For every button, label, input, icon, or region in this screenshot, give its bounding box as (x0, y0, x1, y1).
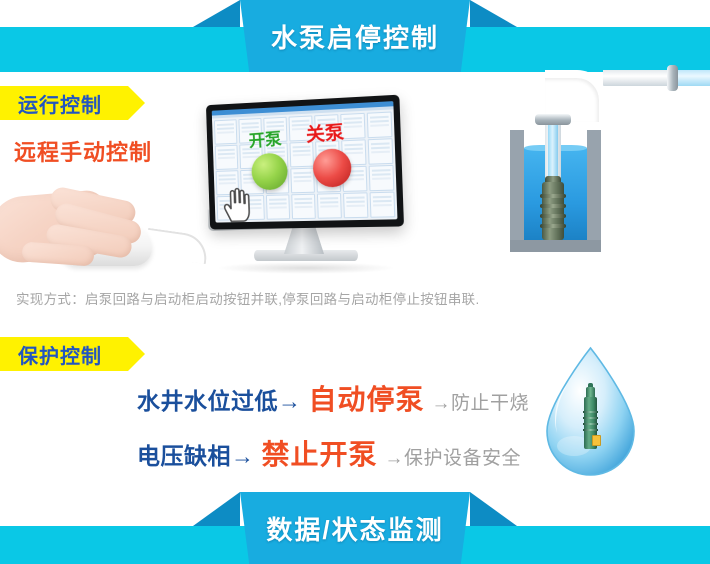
tag-arrow-point-icon (128, 86, 145, 120)
pump-control-ui: 开泵 关泵 (212, 101, 398, 222)
start-pump-button[interactable] (251, 153, 288, 191)
pump-ring (583, 423, 598, 425)
pump-ring (540, 224, 566, 228)
pump-ring (540, 194, 566, 198)
stop-pump-button[interactable] (312, 148, 352, 188)
infographic-page: 水泵启停控制 运行控制 远程手动控制 (0, 0, 710, 564)
protection-rule-action: 自动停泵 (309, 378, 425, 418)
water-outlet-pipe-icon (678, 70, 710, 86)
top-banner-fold-left (193, 0, 240, 27)
start-pump-label: 开泵 (248, 124, 282, 151)
stop-pump-label: 关泵 (305, 117, 345, 147)
protection-rule-effect: →防止干烧 (432, 388, 530, 415)
protection-rule-effect: →保护设备安全 (385, 443, 522, 470)
tag-protection-control[interactable]: 保护控制 (0, 337, 128, 371)
well-floor (510, 240, 601, 252)
well-wall-left (510, 130, 524, 252)
hand-on-mouse-icon (0, 172, 194, 280)
protection-rule-condition: 水井水位过低→ (137, 382, 302, 416)
pump-ring (540, 204, 566, 208)
pump-ring (540, 214, 566, 218)
top-banner-title: 水泵启停控制 (271, 18, 439, 55)
top-banner-fold-right (470, 0, 517, 27)
pointing-hand-cursor-icon (220, 185, 253, 222)
bottom-banner-fold-right (470, 492, 517, 526)
water-droplet-icon (538, 345, 643, 480)
implementation-note: 实现方式：启泵回路与启动柜启动按钮并联,停泵回路与启动柜停止按钮串联. (16, 288, 480, 308)
bottom-banner-title: 数据/状态监测 (266, 510, 443, 547)
pump-label-tag (592, 435, 601, 446)
monitor-screen: 开泵 关泵 (212, 101, 398, 222)
pump-ring (583, 417, 598, 419)
pump-ring (583, 429, 598, 431)
protection-rule-row: 电压缺相→ 禁止开泵 →保护设备安全 (137, 433, 521, 473)
pipe-flange-horizontal-icon (667, 65, 678, 91)
desktop-monitor-icon: 开泵 关泵 (196, 100, 406, 275)
well-wall-right (587, 130, 601, 252)
droplet-pump-icon (582, 383, 599, 449)
pump-ring (583, 411, 598, 413)
bottom-banner-fold-left (193, 492, 240, 526)
pump-body-icon (542, 182, 564, 240)
tag-arrow-point-icon (128, 337, 145, 371)
monitor-shadow (216, 262, 396, 274)
monitor-bezel: 开泵 关泵 (206, 95, 404, 230)
monitor-stand-icon (284, 224, 324, 254)
finger-pinky-icon (21, 242, 94, 267)
tag-protection-control-label: 保护控制 (18, 340, 102, 369)
top-banner-plaque: 水泵启停控制 (240, 0, 470, 72)
protection-rule-row: 水井水位过低→ 自动停泵 →防止干烧 (137, 378, 529, 418)
bottom-banner: 数据/状态监测 (0, 492, 710, 564)
submersible-well-pump-icon (495, 62, 710, 262)
bottom-banner-plaque: 数据/状态监测 (240, 492, 470, 564)
tag-run-control[interactable]: 运行控制 (0, 86, 128, 120)
tag-run-control-label: 运行控制 (18, 89, 102, 118)
protection-rule-action: 禁止开泵 (262, 433, 378, 473)
remote-manual-control-label: 远程手动控制 (14, 135, 152, 167)
protection-rule-condition: 电压缺相→ (137, 437, 255, 471)
pipe-flange-vertical-icon (535, 114, 571, 125)
